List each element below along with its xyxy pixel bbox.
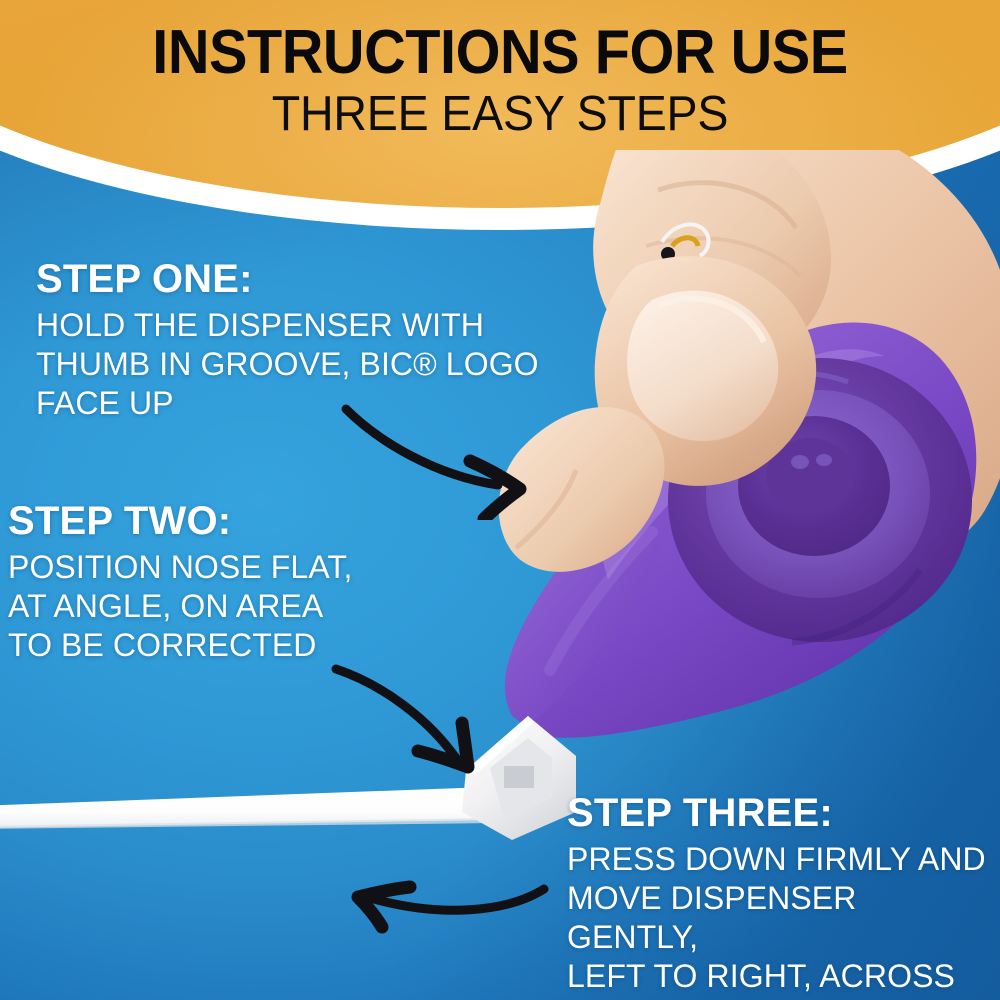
page-title: INSTRUCTIONS FOR USE (35, 0, 965, 84)
step-one-line-3: FACE UP (36, 385, 174, 421)
step-two-line-3: TO BE CORRECTED (8, 627, 317, 663)
step-three-block: STEP THREE: PRESS DOWN FIRMLY AND MOVE D… (567, 792, 987, 1000)
step-two-body: POSITION NOSE FLAT, AT ANGLE, ON AREA TO… (8, 548, 428, 665)
step-one-body: HOLD THE DISPENSER WITH THUMB IN GROOVE,… (36, 306, 556, 423)
step-one-line-1: HOLD THE DISPENSER WITH (36, 307, 484, 343)
step-one-block: STEP ONE: HOLD THE DISPENSER WITH THUMB … (36, 258, 556, 423)
step-two-block: STEP TWO: POSITION NOSE FLAT, AT ANGLE, … (8, 500, 428, 665)
step-three-body: PRESS DOWN FIRMLY AND MOVE DISPENSER GEN… (567, 840, 987, 1000)
step-three-heading: STEP THREE: (567, 792, 987, 834)
step-one-line-2: THUMB IN GROOVE, BIC® LOGO (36, 346, 539, 382)
title-block: INSTRUCTIONS FOR USE THREE EASY STEPS (0, 0, 1000, 139)
step-two-line-1: POSITION NOSE FLAT, (8, 549, 352, 585)
infographic-canvas: INSTRUCTIONS FOR USE THREE EASY STEPS ST… (0, 0, 1000, 1000)
step-three-line-1: PRESS DOWN FIRMLY AND (567, 841, 986, 877)
step-three-line-3: LEFT TO RIGHT, ACROSS (567, 958, 955, 994)
step-two-line-2: AT ANGLE, ON AREA (8, 588, 323, 624)
step-three-line-2: MOVE DISPENSER GENTLY, (567, 880, 856, 955)
correction-tape-strip (0, 782, 510, 842)
page-subtitle: THREE EASY STEPS (25, 84, 975, 139)
step-one-heading: STEP ONE: (36, 258, 556, 300)
step-two-heading: STEP TWO: (8, 500, 428, 542)
